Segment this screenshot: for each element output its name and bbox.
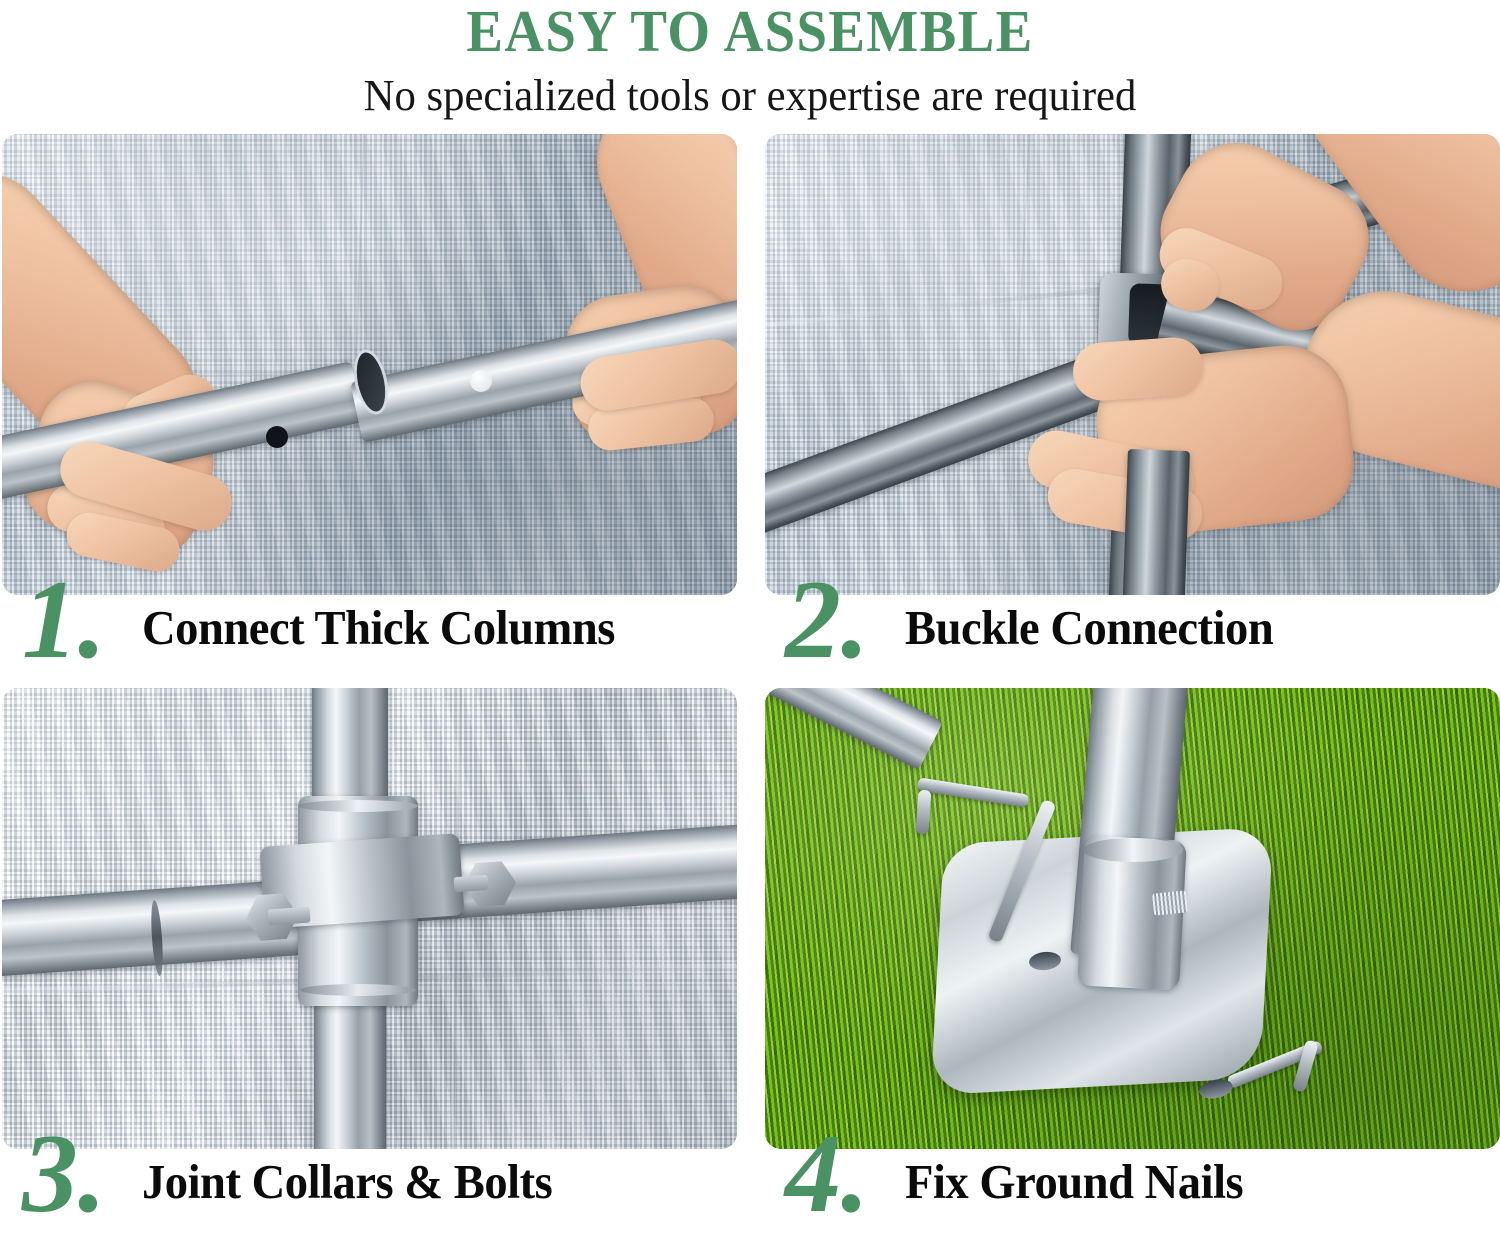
header: EASY TO ASSEMBLE No specialized tools or… [0,0,1500,132]
pole-hole [266,426,288,448]
step-3-number: 3. [22,1128,106,1220]
step-card-4: 4. Fix Ground Nails [765,688,1500,1216]
pole-rim [1083,838,1183,862]
vertical-pole-lower [1122,449,1190,595]
step-3-label: Joint Collars & Bolts [142,1152,552,1212]
step-card-2: 2. Buckle Connection [765,134,1500,662]
collar-ring [300,984,416,996]
step-card-1: 1. Connect Thick Columns [2,134,737,662]
step-2-label: Buckle Connection [905,598,1273,658]
step-4-label: Fix Ground Nails [905,1152,1243,1212]
step-1-caption: 1. Connect Thick Columns [2,584,737,662]
step-4-photo [765,688,1500,1149]
page-title: EASY TO ASSEMBLE [53,0,1448,60]
step-2-caption: 2. Buckle Connection [765,584,1500,662]
step-4-number: 4. [785,1128,869,1220]
collar-ring [298,800,418,812]
step-2-photo [765,134,1500,595]
lower-thumb [1071,336,1205,403]
step-4-caption: 4. Fix Ground Nails [765,1138,1500,1216]
vertical-pole-bottom [314,988,386,1149]
step-1-number: 1. [22,574,106,666]
step-3-caption: 3. Joint Collars & Bolts [2,1138,737,1216]
pole-hole [470,370,492,392]
page-subtitle: No specialized tools or expertise are re… [23,60,1478,122]
collar-bolt [1152,890,1188,915]
steps-grid: 1. Connect Thick Columns [0,132,1500,1204]
step-1-photo [2,134,737,595]
step-3-photo [2,688,737,1149]
easy-to-assemble-infographic: EASY TO ASSEMBLE No specialized tools or… [0,0,1500,1204]
step-card-3: 3. Joint Collars & Bolts [2,688,737,1216]
step-1-label: Connect Thick Columns [142,598,615,658]
step-2-number: 2. [785,574,869,666]
bolt-right [454,875,489,892]
bolt-left [267,907,310,926]
